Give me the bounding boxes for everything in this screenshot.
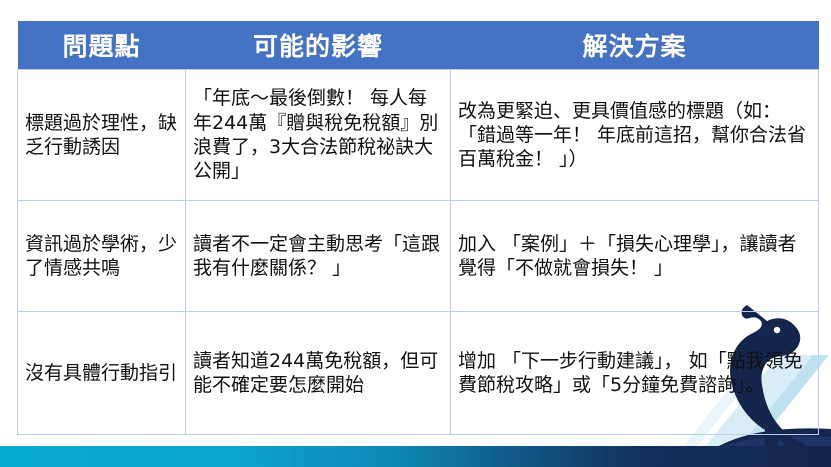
column-header-impact: 可能的影響 [186, 21, 451, 70]
comparison-table: 問題點 可能的影響 解決方案 標題過於理性，缺乏行動誘因 「年底～最後倒數！ 每… [17, 21, 819, 435]
cell-impact-1: 「年底～最後倒數！ 每人每年244萬『贈與稅免稅額』別浪費了，3大合法節稅祕訣大… [186, 70, 451, 201]
cell-impact-3: 讀者知道244萬免稅額，但可能不確定要怎麼開始 [186, 312, 451, 435]
table-row: 沒有具體行動指引 讀者知道244萬免稅額，但可能不確定要怎麼開始 增加 「下一步… [18, 312, 819, 435]
bottom-accent-band [0, 446, 831, 467]
table-header-row: 問題點 可能的影響 解決方案 [18, 21, 819, 70]
table-row: 資訊過於學術，少了情感共鳴 讀者不一定會主動思考「這跟我有什麼關係？ 」 加入 … [18, 201, 819, 312]
cell-impact-2: 讀者不一定會主動思考「這跟我有什麼關係？ 」 [186, 201, 451, 312]
cell-solution-1: 改為更緊迫、更具價值感的標題（如： 「錯過等一年！ 年底前這招，幫你合法省百萬稅… [451, 70, 819, 201]
column-header-solution: 解決方案 [451, 21, 819, 70]
table-row: 標題過於理性，缺乏行動誘因 「年底～最後倒數！ 每人每年244萬『贈與稅免稅額』… [18, 70, 819, 201]
column-header-issue: 問題點 [18, 21, 186, 70]
slide-canvas: 雷龍式銷售 問題點 可能的影響 解決方案 標題過於理性，缺乏行動誘因 「年底～最… [0, 0, 831, 467]
cell-solution-3: 增加 「下一步行動建議」， 如「點我領免費節稅攻略」或「5分鐘免費諮詢」。 [451, 312, 819, 435]
cell-issue-1: 標題過於理性，缺乏行動誘因 [18, 70, 186, 201]
cell-issue-3: 沒有具體行動指引 [18, 312, 186, 435]
cell-issue-2: 資訊過於學術，少了情感共鳴 [18, 201, 186, 312]
comparison-table-container: 問題點 可能的影響 解決方案 標題過於理性，缺乏行動誘因 「年底～最後倒數！ 每… [17, 21, 818, 435]
cell-solution-2: 加入 「案例」＋「損失心理學」，讓讀者覺得「不做就會損失！ 」 [451, 201, 819, 312]
